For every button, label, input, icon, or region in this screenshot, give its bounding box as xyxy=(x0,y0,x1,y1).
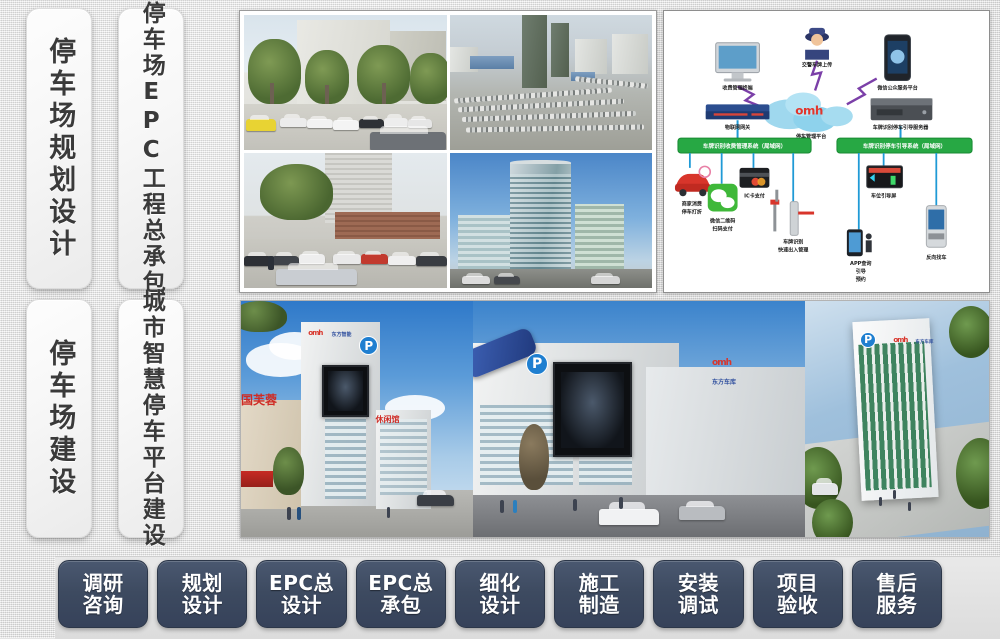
architecture-diagram: omh 停车管理平台 收费管理终端 交警车牌上传 xyxy=(670,17,983,286)
subsystem-bar-label: 车牌识别收费管理系统（局域网） xyxy=(703,142,786,150)
process-step-detail-design[interactable]: 细化 设计 xyxy=(455,560,545,628)
brand-logo-cn: 东方智能 xyxy=(331,331,351,338)
rendering-parking-garage-facade: P omh 东方车库 xyxy=(473,301,805,537)
service-card-label: 停车场建设 xyxy=(45,339,74,499)
node-label-charging-terminal: 收费管理终端 xyxy=(722,84,752,91)
process-step-manufacturing[interactable]: 施工 制造 xyxy=(554,560,644,628)
sign-left-text: 国芙蓉 xyxy=(241,391,277,408)
subsystem-bar-charging: 车牌识别收费管理系统（局域网） xyxy=(678,138,811,153)
subsystem-bar-label: 车牌识别停车引导系统（局域网） xyxy=(863,142,946,150)
smartphone-icon xyxy=(885,35,911,81)
node-label-guide-screen: 车位引导屏 xyxy=(871,193,896,200)
wechat-icon xyxy=(708,184,738,212)
process-step-acceptance[interactable]: 项目 验收 xyxy=(753,560,843,628)
led-guide-screen-icon xyxy=(867,166,903,188)
service-card-epc-contracting[interactable]: 停车场EPC工程总承包 xyxy=(118,8,184,289)
node-label-reverse-find-car: 反向找车 xyxy=(926,254,946,261)
red-car-icon xyxy=(675,166,711,196)
node-label-app-1: APP查询 xyxy=(850,260,871,267)
service-card-label: 城市智慧停车平台建设 xyxy=(139,289,163,549)
photo-street-parking-lot xyxy=(244,15,447,150)
site-photo-grid-panel xyxy=(239,10,657,293)
page-background: 停车场规划设计 停车场EPC工程总承包 停车场建设 城市智慧停车平台建设 xyxy=(0,0,1000,638)
node-label-guidance-server: 车牌识别停车引导服务器 xyxy=(873,124,929,131)
node-label-app-2: 引导 xyxy=(856,268,866,275)
service-card-parking-planning[interactable]: 停车场规划设计 xyxy=(26,8,92,289)
brand-logo-omh: omh xyxy=(712,358,731,368)
photo-aerial-parking xyxy=(450,15,653,150)
process-step-research[interactable]: 调研 咨询 xyxy=(58,560,148,628)
desktop-monitor-icon xyxy=(716,43,760,82)
renderings-panel: omh 东方智能 P 国芙蓉 休闲馆 P omh 东方车库 xyxy=(240,300,990,538)
node-label-merchant-discount-1: 商家消费 xyxy=(682,201,702,208)
brand-logo-cn: 东方车库 xyxy=(712,377,736,386)
node-label-app-3: 预约 xyxy=(856,276,866,283)
process-step-bar: 调研 咨询 规划 设计 EPC总 设计 EPC总 承包 细化 设计 施工 制造 … xyxy=(0,550,1000,638)
node-label-wechat-qr-1: 微信二维码 xyxy=(709,217,735,224)
node-label-police-upload: 交警车牌上传 xyxy=(802,62,832,69)
node-label-plate-gate-1: 车牌识别 xyxy=(783,238,803,245)
cloud-logo-text: omh xyxy=(795,103,823,117)
rack-server-icon xyxy=(871,98,933,120)
subsystem-bar-guidance: 车牌识别停车引导系统（局域网） xyxy=(837,138,972,153)
sign-right-text: 休闲馆 xyxy=(376,414,400,425)
service-card-smart-platform[interactable]: 城市智慧停车平台建设 xyxy=(118,299,184,538)
process-step-installation[interactable]: 安装 调试 xyxy=(653,560,743,628)
brand-logo-omh: omh xyxy=(893,336,907,344)
service-card-label: 停车场规划设计 xyxy=(45,37,74,261)
photo-office-tower xyxy=(450,153,653,288)
architecture-diagram-panel: omh 停车管理平台 收费管理终端 交警车牌上传 xyxy=(663,10,990,293)
service-card-label: 停车场EPC工程总承包 xyxy=(139,1,163,296)
process-step-planning[interactable]: 规划 设计 xyxy=(157,560,247,628)
network-gateway-icon xyxy=(706,104,770,119)
rendering-aerial-parking-tower: P omh 东方车库 xyxy=(805,301,989,537)
ic-card-icon xyxy=(740,168,770,188)
parking-p-mark: P xyxy=(860,332,876,348)
process-step-epc-design[interactable]: EPC总 设计 xyxy=(256,560,346,628)
kiosk-icon xyxy=(926,206,946,248)
node-label-merchant-discount-2: 停车打折 xyxy=(682,209,702,216)
service-card-parking-construction[interactable]: 停车场建设 xyxy=(26,299,92,538)
brand-logo-omh: omh xyxy=(308,329,322,337)
node-label-wechat-platform: 微信公众服务平台 xyxy=(876,84,917,91)
photo-grid xyxy=(244,15,652,288)
process-step-epc-contract[interactable]: EPC总 承包 xyxy=(356,560,446,628)
node-label-wechat-qr-2: 扫码支付 xyxy=(713,225,733,232)
photo-brick-building-parking xyxy=(244,153,447,288)
node-label-plate-gate-2: 快速出入管理 xyxy=(778,246,808,253)
rendering-parking-tower-street: omh 东方智能 P 国芙蓉 休闲馆 xyxy=(241,301,473,537)
parking-p-mark: P xyxy=(526,353,548,375)
barrier-gate-icon xyxy=(770,190,814,236)
node-label-ic-card: IC卡支付 xyxy=(744,193,765,200)
mobile-app-icon xyxy=(847,229,872,256)
traffic-police-icon xyxy=(805,28,829,60)
brand-logo-cn: 东方车库 xyxy=(915,339,933,345)
node-label-iot-gateway: 物联网网关 xyxy=(725,124,751,131)
process-step-after-sales[interactable]: 售后 服务 xyxy=(852,560,942,628)
